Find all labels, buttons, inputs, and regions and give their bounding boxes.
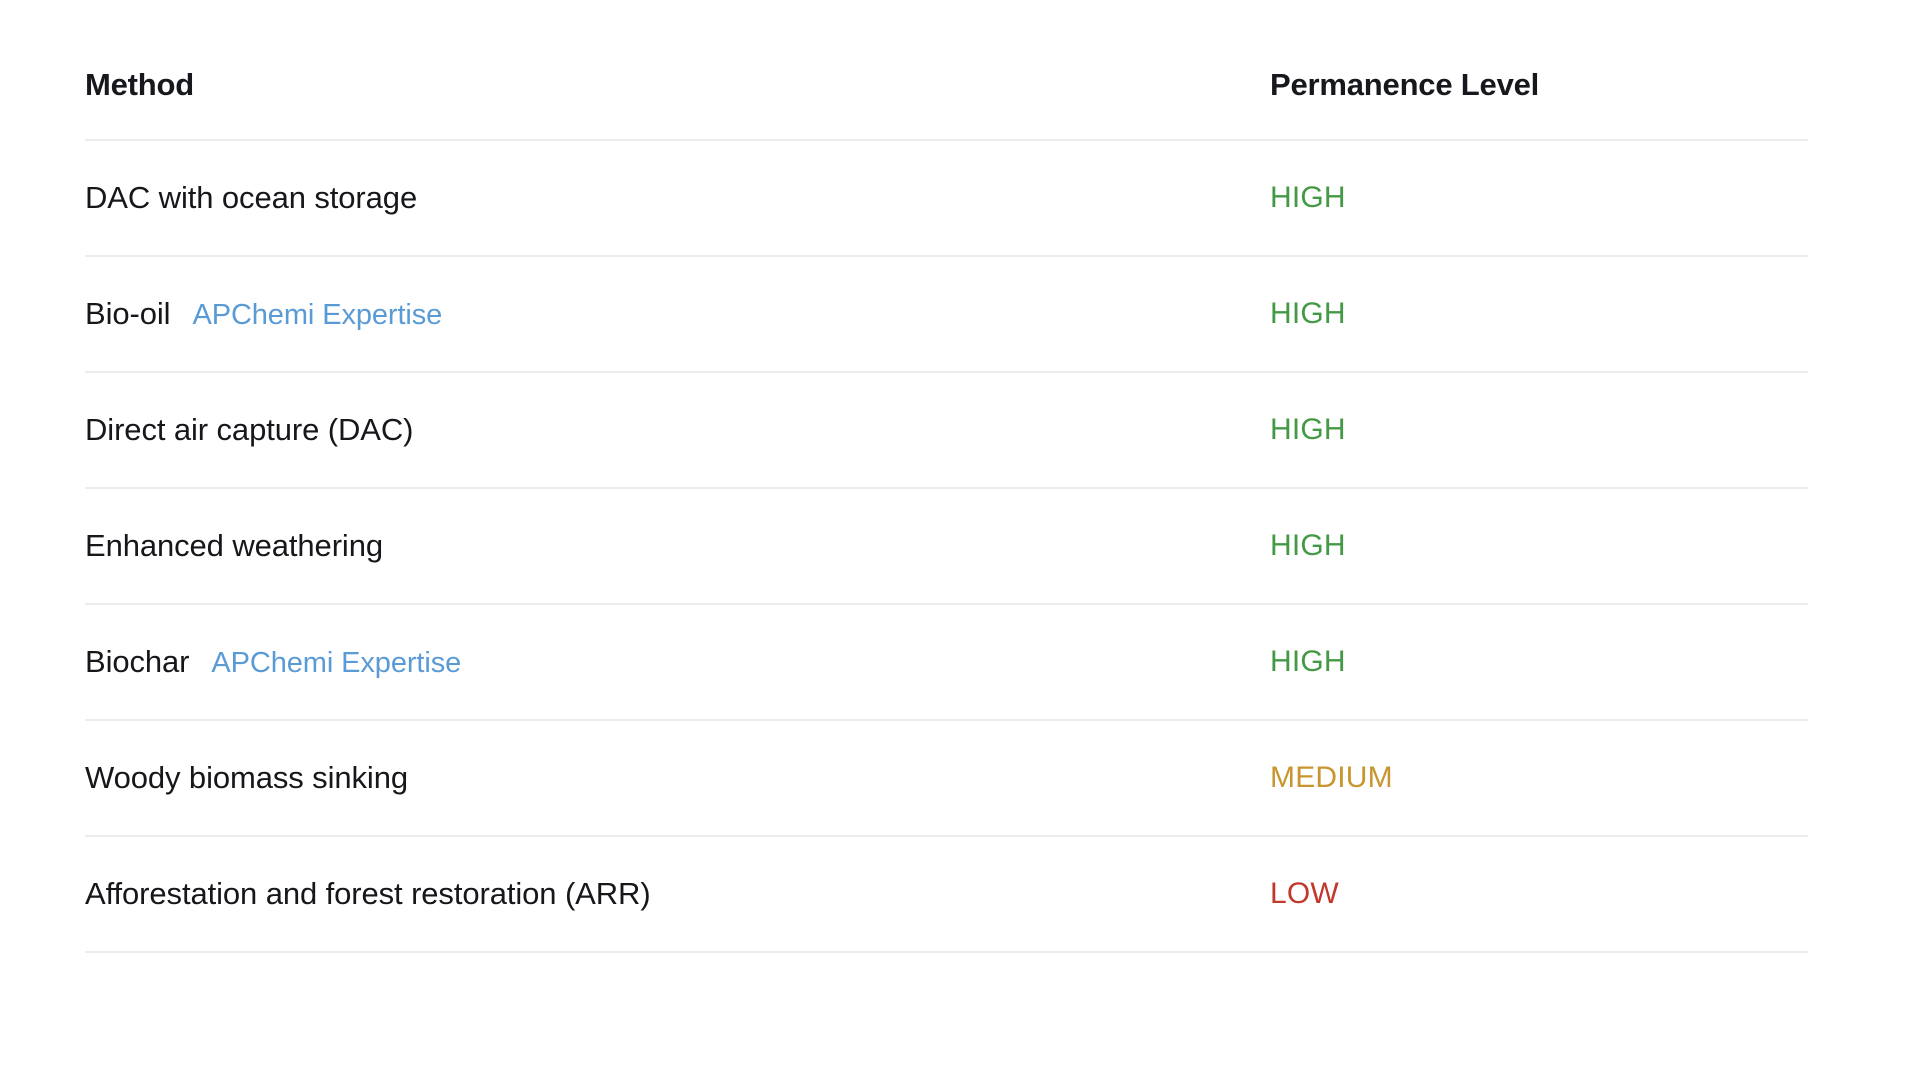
- cell-permanence-level: LOW: [1270, 836, 1808, 952]
- page-root: Method Permanence Level DAC with ocean s…: [0, 0, 1920, 1080]
- cell-permanence-level: HIGH: [1270, 604, 1808, 720]
- cell-permanence-level: MEDIUM: [1270, 720, 1808, 836]
- cell-method: Direct air capture (DAC): [85, 372, 1270, 488]
- cell-permanence-level: HIGH: [1270, 256, 1808, 372]
- permanence-level-value: HIGH: [1270, 645, 1346, 678]
- cell-method: BiocharAPChemi Expertise: [85, 604, 1270, 720]
- table-row: DAC with ocean storageHIGH: [85, 140, 1808, 256]
- table-row: Direct air capture (DAC)HIGH: [85, 372, 1808, 488]
- table-header-row: Method Permanence Level: [85, 66, 1808, 140]
- table-body: DAC with ocean storageHIGHBio-oilAPChemi…: [85, 140, 1808, 952]
- permanence-level-table: Method Permanence Level DAC with ocean s…: [85, 66, 1808, 953]
- method-label: Woody biomass sinking: [85, 760, 408, 795]
- cell-method: Bio-oilAPChemi Expertise: [85, 256, 1270, 372]
- permanence-level-value: MEDIUM: [1270, 761, 1393, 794]
- table-row: Bio-oilAPChemi ExpertiseHIGH: [85, 256, 1808, 372]
- cell-permanence-level: HIGH: [1270, 140, 1808, 256]
- cell-method: Enhanced weathering: [85, 488, 1270, 604]
- table-header: Method Permanence Level: [85, 66, 1808, 140]
- cell-method: DAC with ocean storage: [85, 140, 1270, 256]
- permanence-level-value: HIGH: [1270, 181, 1346, 214]
- method-label: Direct air capture (DAC): [85, 412, 413, 447]
- cell-permanence-level: HIGH: [1270, 488, 1808, 604]
- method-label: Enhanced weathering: [85, 528, 383, 563]
- permanence-table-container: Method Permanence Level DAC with ocean s…: [85, 66, 1808, 953]
- method-label: Biochar: [85, 644, 189, 679]
- cell-method: Afforestation and forest restoration (AR…: [85, 836, 1270, 952]
- method-label: Bio-oil: [85, 296, 170, 331]
- table-row: Enhanced weatheringHIGH: [85, 488, 1808, 604]
- method-label: Afforestation and forest restoration (AR…: [85, 876, 651, 911]
- column-header-method: Method: [85, 66, 1270, 140]
- method-label: DAC with ocean storage: [85, 180, 417, 215]
- permanence-level-value: HIGH: [1270, 529, 1346, 562]
- table-row: Woody biomass sinkingMEDIUM: [85, 720, 1808, 836]
- table-row: Afforestation and forest restoration (AR…: [85, 836, 1808, 952]
- table-row: BiocharAPChemi ExpertiseHIGH: [85, 604, 1808, 720]
- permanence-level-value: HIGH: [1270, 413, 1346, 446]
- cell-method: Woody biomass sinking: [85, 720, 1270, 836]
- cell-permanence-level: HIGH: [1270, 372, 1808, 488]
- permanence-level-value: LOW: [1270, 877, 1339, 910]
- permanence-level-value: HIGH: [1270, 297, 1346, 330]
- column-header-permanence-level: Permanence Level: [1270, 66, 1808, 140]
- apchemi-expertise-link[interactable]: APChemi Expertise: [192, 299, 442, 331]
- apchemi-expertise-link[interactable]: APChemi Expertise: [211, 647, 461, 679]
